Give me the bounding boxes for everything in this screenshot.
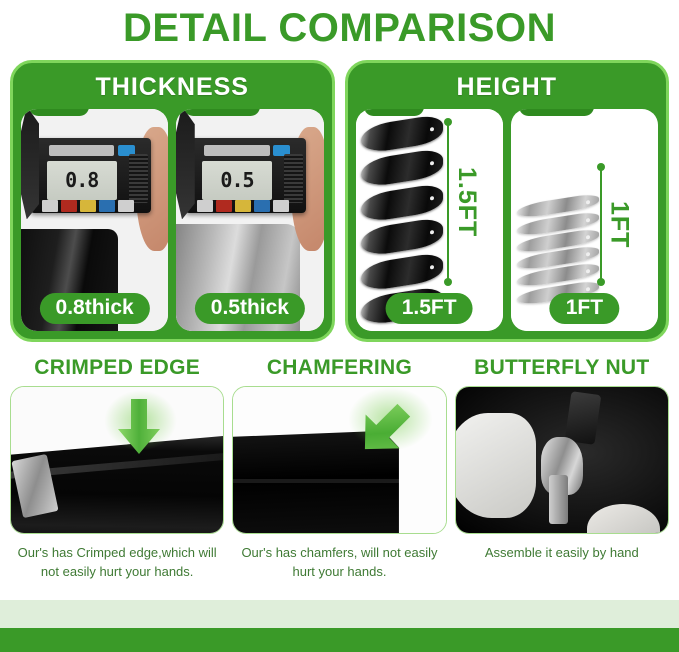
badge-ours-thickness: OUR'S [29,109,89,116]
panel-thickness-cards: 0.8 OUR'S 0.8thick [21,109,324,331]
comparison-panel-row: THICKNESS 0.8 [0,56,679,342]
dimension-label-ours: 1.5FT [454,167,479,237]
page-title: DETAIL COMPARISON [123,8,556,48]
dimension-line-others: 1FT [600,167,632,282]
value-others-thickness: 0.5thick [195,293,305,324]
feature-crimped-edge-caption: Our's has Crimped edge,which will not ea… [10,544,224,582]
value-ours-height: 1.5FT [386,293,473,324]
panel-height-title: HEIGHT [356,69,659,109]
badge-others-height: OTHER'S [519,109,594,116]
digital-caliper-icon: 0.5 [185,138,306,213]
feature-chamfering-title: CHAMFERING [267,356,412,380]
feature-crimped-edge-card [10,386,224,534]
feature-butterfly-nut-title: BUTTERFLY NUT [474,356,649,380]
badge-ours-height: OUR'S [364,109,424,116]
value-others-height: 1FT [550,293,619,324]
butterfly-nut-photo [456,387,668,533]
spec-card-ours-height: 1.5FT OUR'S 1.5FT [356,109,503,331]
spec-card-ours-thickness: 0.8 OUR'S 0.8thick [21,109,168,331]
feature-chamfering-caption: Our's has chamfers, will not easily hurt… [232,544,446,582]
feature-row: CRIMPED EDGE Our's has Crimped edge,whic… [0,342,679,582]
dimension-line-ours: 1.5FT [447,122,479,282]
feature-chamfering-card [232,386,446,534]
down-arrow-icon [117,399,161,455]
spec-card-others-height: 1FT OTHER'S 1FT [511,109,658,331]
footer [0,600,679,652]
feature-chamfering: CHAMFERING Our's has chamfers, wil [232,356,446,582]
dimension-label-others: 1FT [607,201,632,248]
spec-card-others-thickness: 0.5 OTHER'S 0.5thick [176,109,323,331]
feature-crimped-edge-title: CRIMPED EDGE [34,356,200,380]
panel-thickness: THICKNESS 0.8 [10,60,335,342]
header: DETAIL COMPARISON [0,0,679,56]
caliper-reading-ours: 0.8 [65,170,98,190]
feature-butterfly-nut-card [455,386,669,534]
badge-others-thickness: OTHER'S [184,109,259,116]
feature-butterfly-nut: BUTTERFLY NUT Assemble it easily by hand [455,356,669,582]
feature-butterfly-nut-caption: Assemble it easily by hand [479,544,645,563]
caliper-reading-others: 0.5 [220,170,253,190]
feature-crimped-edge: CRIMPED EDGE Our's has Crimped edge,whic… [10,356,224,582]
diagonal-arrow-icon [356,402,412,458]
panel-thickness-title: THICKNESS [21,69,324,109]
digital-caliper-icon: 0.8 [30,138,151,213]
value-ours-thickness: 0.8thick [40,293,150,324]
footer-pale-band [0,600,679,628]
footer-green-bar [0,628,679,652]
panel-height-cards: 1.5FT OUR'S 1.5FT 1FT [356,109,659,331]
panel-height: HEIGHT 1.5FT OUR'S 1.5FT [345,60,670,342]
